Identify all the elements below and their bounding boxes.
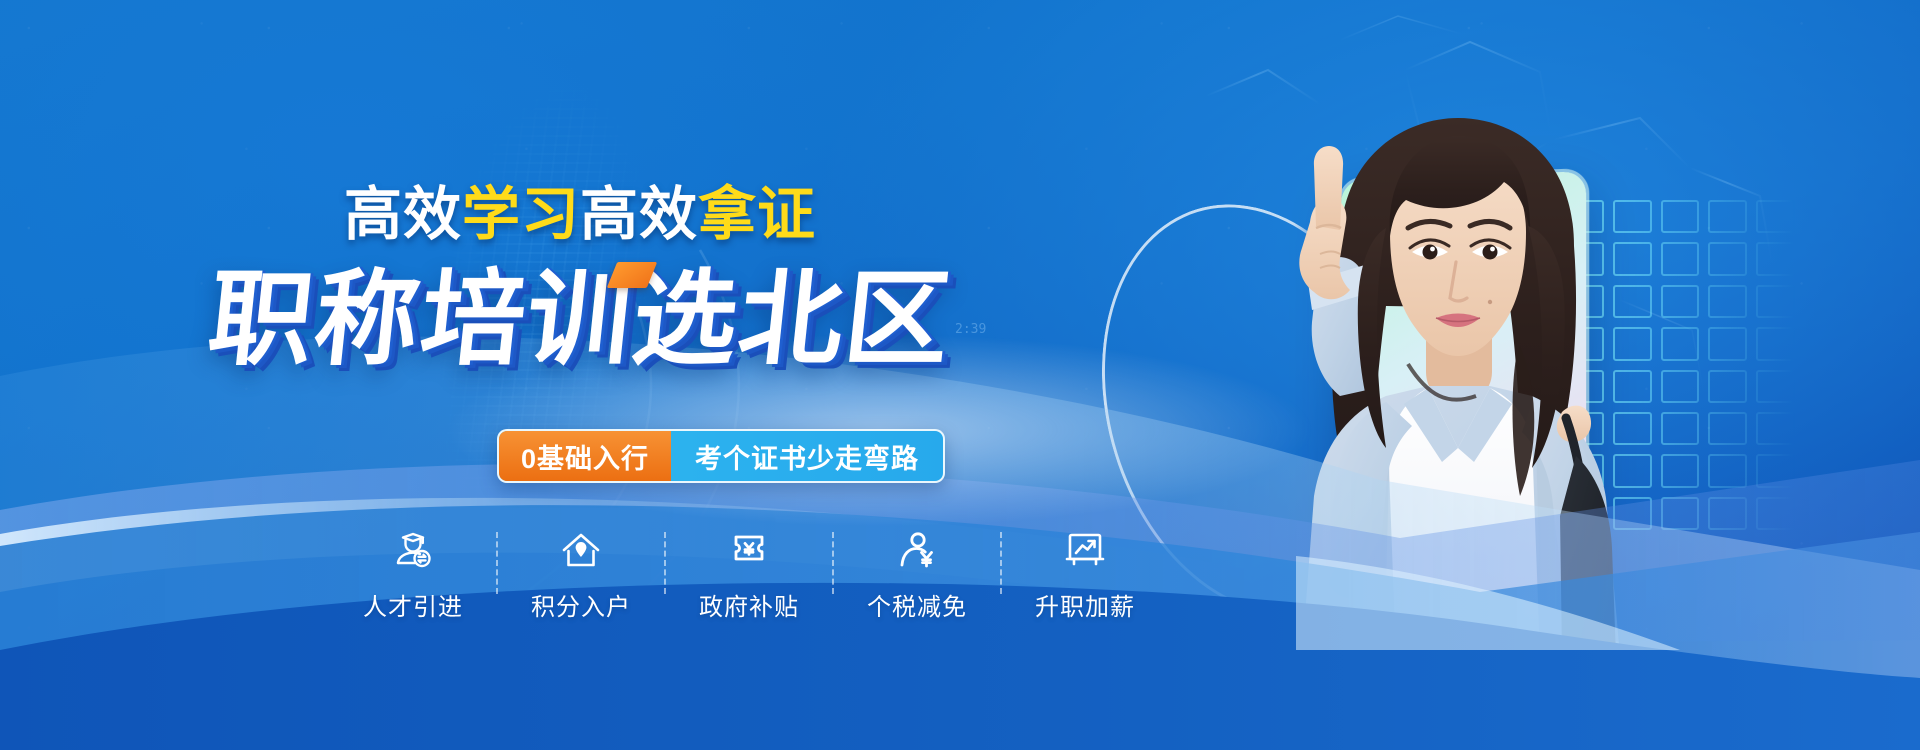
subheadline: 高效学习高效拿证 xyxy=(0,186,1160,244)
feature-item-talent-introduction[interactable]: 人才引进 xyxy=(330,528,496,622)
subheadline-part-4: 拿证 xyxy=(698,182,816,247)
tagline-badge[interactable]: 0基础入行 考个证书少走弯路 xyxy=(497,429,945,483)
voucher-yuan-icon xyxy=(727,528,771,574)
house-pin-icon xyxy=(559,528,603,574)
feature-label: 人才引进 xyxy=(363,587,463,622)
person-yuan-icon xyxy=(895,528,939,574)
feature-item-promotion-raise[interactable]: 升职加薪 xyxy=(1002,528,1168,622)
feature-label: 个税减免 xyxy=(867,587,967,622)
chart-board-up-icon xyxy=(1063,528,1107,574)
feature-label: 政府补贴 xyxy=(699,587,799,622)
main-headline: 职称培训选北区 xyxy=(0,268,1160,372)
subheadline-part-2: 学习 xyxy=(462,182,580,247)
feature-label: 升职加薪 xyxy=(1035,587,1135,622)
feature-label: 积分入户 xyxy=(531,587,631,622)
feature-item-government-subsidy[interactable]: 政府补贴 xyxy=(666,528,832,622)
subheadline-part-1: 高效 xyxy=(344,182,462,247)
subheadline-part-3: 高效 xyxy=(580,182,698,247)
feature-item-points-residency[interactable]: 积分入户 xyxy=(498,528,664,622)
badge-left-label: 0基础入行 xyxy=(499,431,671,481)
graduate-exchange-icon xyxy=(391,528,435,574)
feature-list: 人才引进 积分入户 xyxy=(330,528,1168,622)
feature-item-tax-reduction[interactable]: 个税减免 xyxy=(834,528,1000,622)
headline-block: 高效学习高效拿证 职称培训选北区 0基础入行 考个证书少走弯路 xyxy=(0,0,1160,750)
badge-right-label: 考个证书少走弯路 xyxy=(671,431,943,481)
main-headline-text: 职称培训选北区 xyxy=(204,268,957,372)
promo-banner: 2:39 · xyxy=(0,0,1920,750)
